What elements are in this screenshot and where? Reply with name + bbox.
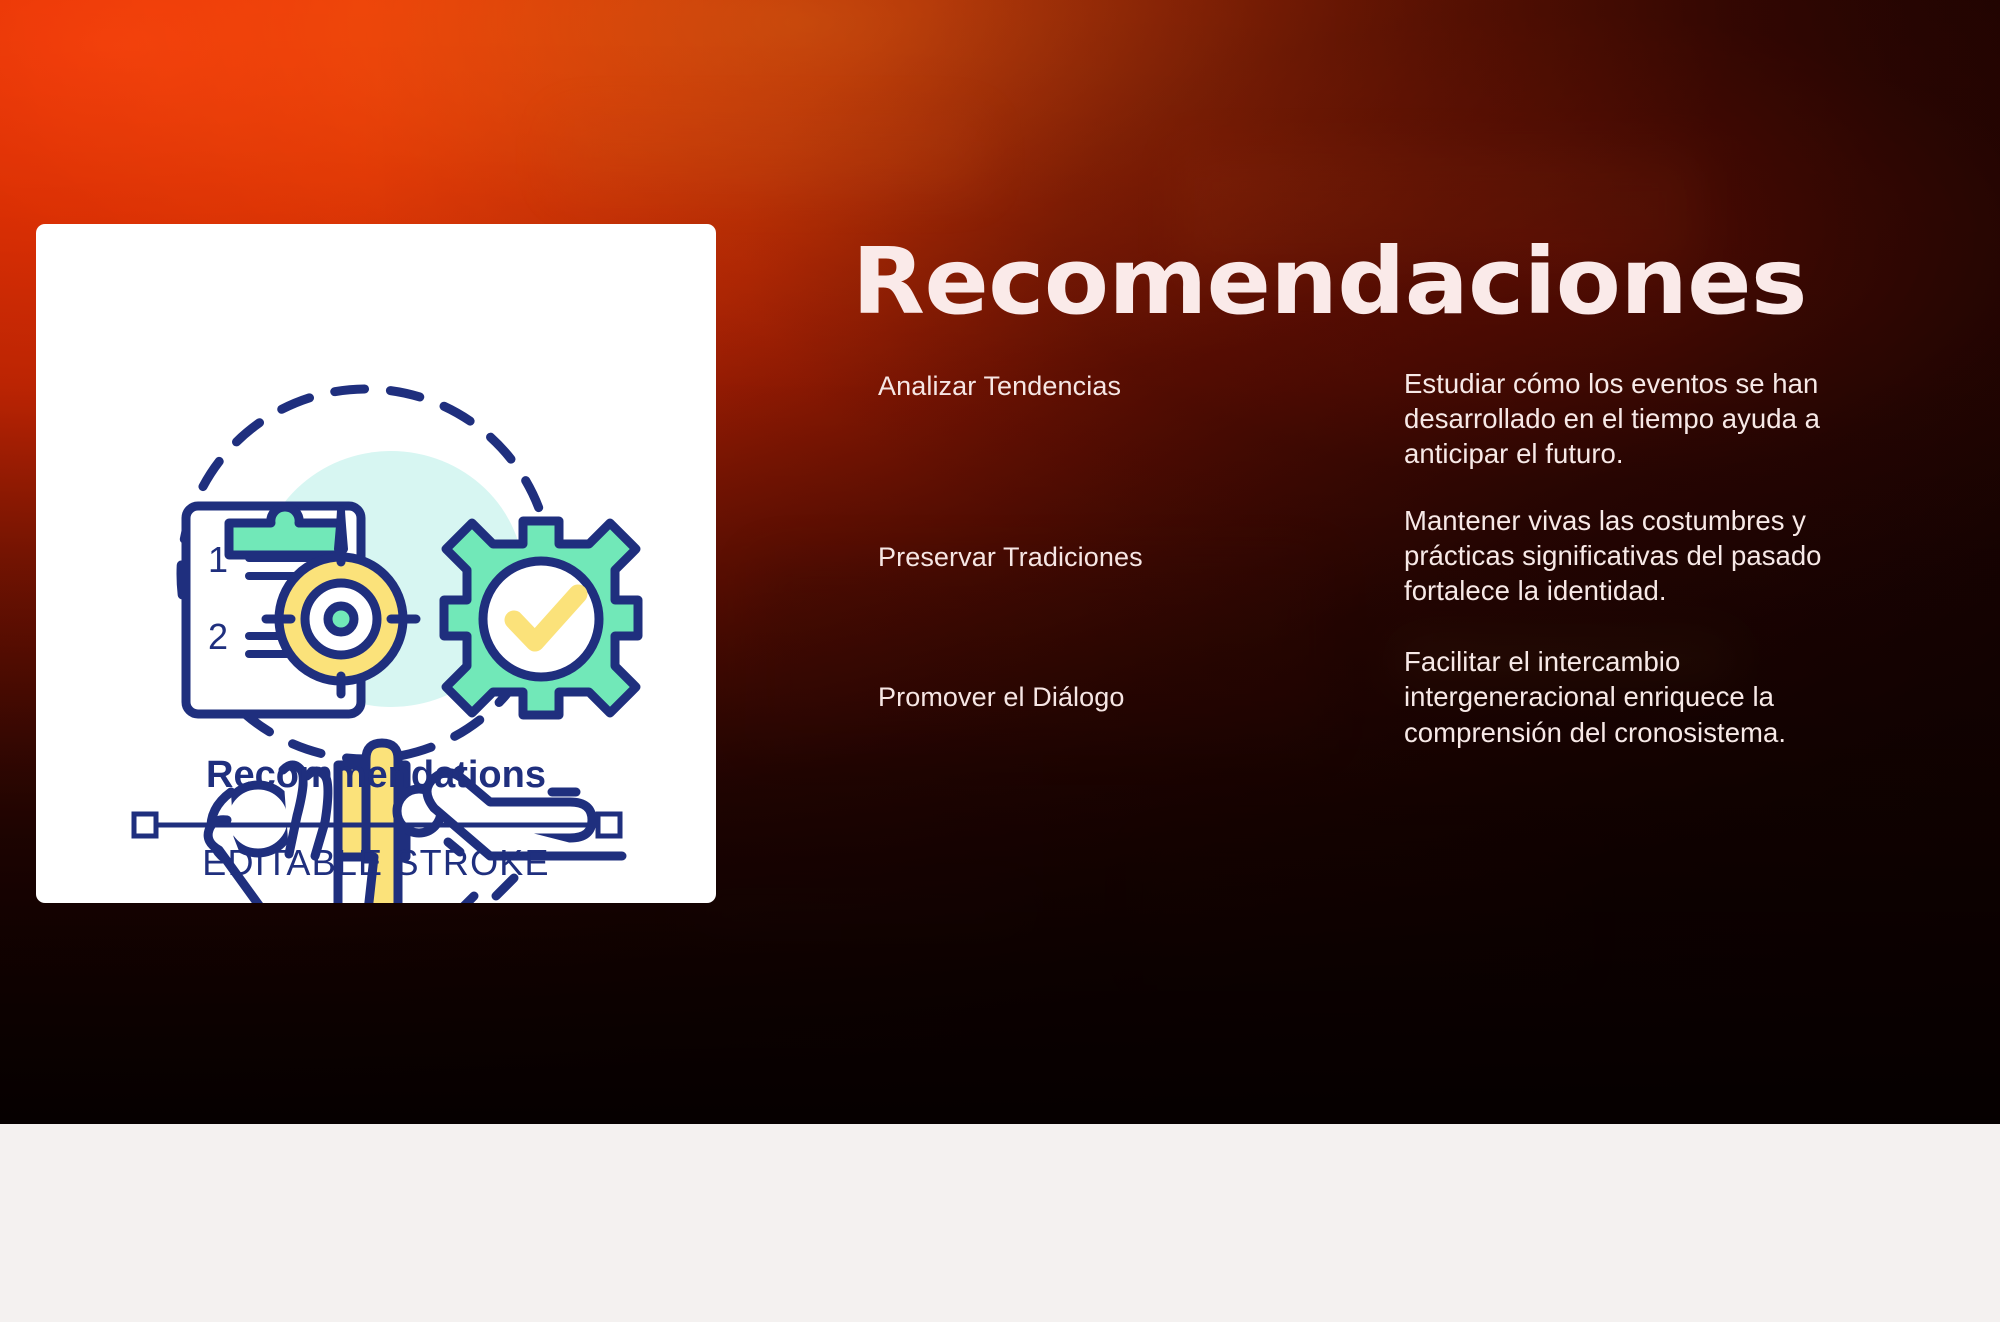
svg-text:1: 1	[208, 539, 228, 580]
list-item: Preservar Tradiciones Mantener vivas las…	[878, 503, 1938, 609]
recommendation-description: Estudiar cómo los eventos se han desarro…	[1404, 366, 1874, 472]
slide: 1 2	[0, 0, 2000, 1124]
recommendation-label: Analizar Tendencias	[878, 366, 1404, 404]
illustration-sub-caption: EDITABLE STROKE	[202, 842, 549, 883]
gear-check-icon	[444, 521, 638, 715]
illustration-caption: Recommendations	[206, 754, 546, 796]
content-area: Recomendaciones	[852, 236, 1932, 328]
recommendation-label: Promover el Diálogo	[878, 644, 1404, 715]
list-item: Promover el Diálogo Facilitar el interca…	[878, 644, 1938, 750]
recommendations-list: Analizar Tendencias Estudiar cómo los ev…	[878, 366, 1938, 750]
concept-illustration: 1 2	[36, 224, 716, 903]
list-item: Analizar Tendencias Estudiar cómo los ev…	[878, 366, 1938, 472]
recommendation-label: Preservar Tradiciones	[878, 503, 1404, 575]
svg-text:2: 2	[208, 616, 228, 657]
page-background-below-slide	[0, 1124, 2000, 1322]
recommendation-description: Mantener vivas las costumbres y práctica…	[1404, 503, 1874, 609]
illustration-card: 1 2	[36, 224, 716, 903]
recommendation-description: Facilitar el intercambio intergeneracion…	[1404, 644, 1874, 750]
page-root: 1 2	[0, 0, 2000, 1322]
page-title: Recomendaciones	[852, 236, 1964, 328]
